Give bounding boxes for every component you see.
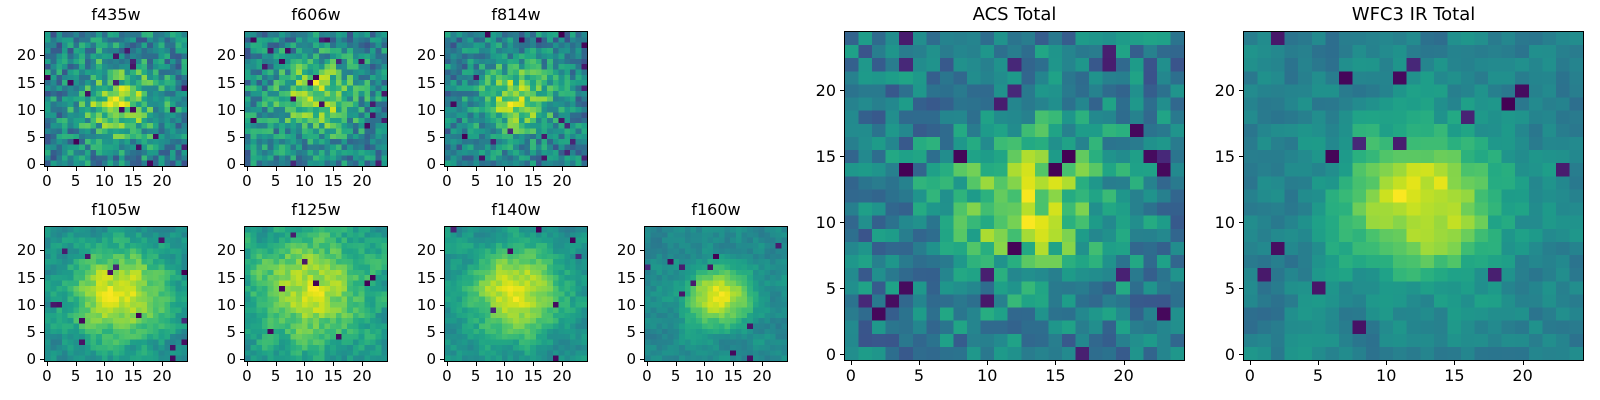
ytick-mark-f814w-3 — [440, 83, 444, 84]
ytick-label-f140w-2: 10 — [384, 296, 436, 314]
heatmap-image-f606w — [245, 32, 387, 166]
ytick-mark-acs_total-3 — [840, 156, 844, 157]
ytick-mark-f140w-0 — [440, 359, 444, 360]
xtick-label-f105w-4: 20 — [137, 367, 187, 385]
ytick-mark-f140w-1 — [440, 332, 444, 333]
ytick-mark-f140w-4 — [440, 250, 444, 251]
axes-wfc3_ir_total — [1243, 31, 1584, 361]
ytick-label-wfc3_ir_total-1: 5 — [1183, 279, 1235, 298]
xtick-mark-f140w-3 — [533, 362, 534, 366]
xtick-mark-f160w-0 — [647, 362, 648, 366]
axes-f140w — [444, 226, 588, 362]
xtick-mark-f125w-4 — [362, 362, 363, 366]
ytick-mark-f606w-4 — [240, 55, 244, 56]
ytick-mark-f105w-4 — [40, 250, 44, 251]
ytick-label-acs_total-1: 5 — [784, 279, 836, 298]
xtick-mark-f140w-2 — [504, 362, 505, 366]
ytick-label-f105w-4: 20 — [0, 241, 36, 259]
ytick-mark-wfc3_ir_total-3 — [1239, 156, 1243, 157]
ytick-label-f105w-3: 15 — [0, 269, 36, 287]
xtick-mark-acs_total-4 — [1124, 361, 1125, 365]
xtick-mark-wfc3_ir_total-0 — [1250, 361, 1251, 365]
ytick-label-f125w-4: 20 — [184, 241, 236, 259]
ytick-mark-f814w-1 — [440, 137, 444, 138]
ytick-label-acs_total-4: 20 — [784, 81, 836, 100]
ytick-label-f140w-0: 0 — [384, 350, 436, 368]
ytick-mark-f435w-2 — [40, 110, 44, 111]
panel-title-f606w: f606w — [244, 5, 388, 25]
ytick-label-f814w-0: 0 — [384, 155, 436, 173]
heatmap-image-f125w — [245, 227, 387, 361]
ytick-label-f435w-3: 15 — [0, 74, 36, 92]
ytick-mark-f814w-0 — [440, 164, 444, 165]
ytick-label-acs_total-2: 10 — [784, 213, 836, 232]
ytick-mark-f160w-0 — [640, 359, 644, 360]
xtick-mark-f814w-1 — [476, 167, 477, 171]
xtick-mark-f160w-4 — [762, 362, 763, 366]
ytick-mark-f125w-1 — [240, 332, 244, 333]
xtick-mark-f125w-3 — [333, 362, 334, 366]
xtick-mark-acs_total-2 — [987, 361, 988, 365]
xtick-label-acs_total-1: 5 — [894, 366, 944, 385]
xtick-mark-f105w-2 — [104, 362, 105, 366]
xtick-mark-f814w-2 — [504, 167, 505, 171]
xtick-label-f606w-4: 20 — [337, 172, 387, 190]
xtick-mark-f105w-1 — [76, 362, 77, 366]
ytick-mark-f435w-4 — [40, 55, 44, 56]
xtick-label-wfc3_ir_total-0: 0 — [1225, 366, 1275, 385]
xtick-label-f125w-4: 20 — [337, 367, 387, 385]
xtick-mark-f125w-2 — [304, 362, 305, 366]
heatmap-image-acs_total — [845, 32, 1184, 360]
ytick-mark-acs_total-2 — [840, 222, 844, 223]
xtick-mark-acs_total-3 — [1055, 361, 1056, 365]
xtick-mark-f160w-3 — [733, 362, 734, 366]
ytick-mark-f140w-2 — [440, 305, 444, 306]
ytick-mark-f125w-2 — [240, 305, 244, 306]
ytick-label-wfc3_ir_total-3: 15 — [1183, 147, 1235, 166]
ytick-mark-wfc3_ir_total-2 — [1239, 222, 1243, 223]
ytick-mark-f125w-3 — [240, 278, 244, 279]
ytick-mark-f160w-3 — [640, 278, 644, 279]
axes-f125w — [244, 226, 388, 362]
xtick-mark-f105w-0 — [47, 362, 48, 366]
ytick-label-f140w-1: 5 — [384, 323, 436, 341]
xtick-mark-f435w-0 — [47, 167, 48, 171]
xtick-mark-f606w-3 — [333, 167, 334, 171]
xtick-mark-f435w-2 — [104, 167, 105, 171]
ytick-label-f160w-1: 5 — [584, 323, 636, 341]
xtick-label-acs_total-4: 20 — [1099, 366, 1149, 385]
xtick-label-acs_total-0: 0 — [826, 366, 876, 385]
ytick-label-wfc3_ir_total-4: 20 — [1183, 81, 1235, 100]
ytick-mark-f125w-0 — [240, 359, 244, 360]
ytick-label-f814w-3: 15 — [384, 74, 436, 92]
ytick-mark-f814w-2 — [440, 110, 444, 111]
heatmap-image-f160w — [645, 227, 787, 361]
ytick-label-f160w-3: 15 — [584, 269, 636, 287]
xtick-label-f814w-4: 20 — [537, 172, 587, 190]
xtick-mark-f606w-0 — [247, 167, 248, 171]
ytick-mark-wfc3_ir_total-0 — [1239, 354, 1243, 355]
ytick-mark-f435w-3 — [40, 83, 44, 84]
ytick-label-wfc3_ir_total-0: 0 — [1183, 345, 1235, 364]
panel-title-f140w: f140w — [444, 200, 588, 220]
axes-f160w — [644, 226, 788, 362]
xtick-mark-f814w-3 — [533, 167, 534, 171]
xtick-label-f140w-4: 20 — [537, 367, 587, 385]
xtick-mark-f160w-1 — [676, 362, 677, 366]
xtick-mark-wfc3_ir_total-4 — [1523, 361, 1524, 365]
xtick-mark-f125w-0 — [247, 362, 248, 366]
xtick-mark-f125w-1 — [276, 362, 277, 366]
ytick-label-f105w-2: 10 — [0, 296, 36, 314]
ytick-mark-f814w-4 — [440, 55, 444, 56]
panel-title-wfc3_ir_total: WFC3 IR Total — [1243, 5, 1584, 25]
axes-f606w — [244, 31, 388, 167]
xtick-label-acs_total-2: 10 — [962, 366, 1012, 385]
xtick-mark-f435w-1 — [76, 167, 77, 171]
xtick-mark-acs_total-0 — [851, 361, 852, 365]
ytick-label-wfc3_ir_total-2: 10 — [1183, 213, 1235, 232]
xtick-mark-wfc3_ir_total-3 — [1454, 361, 1455, 365]
xtick-label-acs_total-3: 15 — [1030, 366, 1080, 385]
xtick-mark-f140w-1 — [476, 362, 477, 366]
ytick-mark-wfc3_ir_total-1 — [1239, 288, 1243, 289]
heatmap-image-f814w — [445, 32, 587, 166]
ytick-label-f435w-1: 5 — [0, 128, 36, 146]
ytick-mark-f105w-1 — [40, 332, 44, 333]
ytick-mark-f140w-3 — [440, 278, 444, 279]
ytick-label-f814w-1: 5 — [384, 128, 436, 146]
panel-title-f160w: f160w — [644, 200, 788, 220]
ytick-label-f160w-2: 10 — [584, 296, 636, 314]
ytick-label-f105w-0: 0 — [0, 350, 36, 368]
xtick-mark-f606w-2 — [304, 167, 305, 171]
xtick-mark-f606w-1 — [276, 167, 277, 171]
ytick-label-f125w-2: 10 — [184, 296, 236, 314]
ytick-mark-f105w-2 — [40, 305, 44, 306]
ytick-label-f125w-3: 15 — [184, 269, 236, 287]
ytick-label-f435w-4: 20 — [0, 46, 36, 64]
xtick-mark-f160w-2 — [704, 362, 705, 366]
xtick-mark-f140w-4 — [562, 362, 563, 366]
ytick-mark-f606w-2 — [240, 110, 244, 111]
figure-canvas: f435w0510152005101520f606w05101520051015… — [0, 0, 1600, 400]
ytick-mark-f435w-1 — [40, 137, 44, 138]
xtick-label-f160w-4: 20 — [737, 367, 787, 385]
ytick-label-f606w-3: 15 — [184, 74, 236, 92]
xtick-mark-wfc3_ir_total-1 — [1318, 361, 1319, 365]
panel-f814w: f814w0510152005101520 — [384, 5, 648, 201]
ytick-label-f105w-1: 5 — [0, 323, 36, 341]
ytick-label-f160w-4: 20 — [584, 241, 636, 259]
heatmap-image-wfc3_ir_total — [1244, 32, 1583, 360]
xtick-mark-f606w-4 — [362, 167, 363, 171]
xtick-mark-f140w-0 — [447, 362, 448, 366]
ytick-mark-f435w-0 — [40, 164, 44, 165]
ytick-mark-f105w-3 — [40, 278, 44, 279]
panel-wfc3_ir_total: WFC3 IR Total0510152005101520 — [1183, 5, 1600, 395]
ytick-mark-acs_total-0 — [840, 354, 844, 355]
panel-title-f435w: f435w — [44, 5, 188, 25]
axes-f814w — [444, 31, 588, 167]
panel-acs_total: ACS Total0510152005101520 — [784, 5, 1245, 395]
ytick-label-f435w-0: 0 — [0, 155, 36, 173]
xtick-label-wfc3_ir_total-2: 10 — [1361, 366, 1411, 385]
ytick-label-f606w-0: 0 — [184, 155, 236, 173]
ytick-label-acs_total-0: 0 — [784, 345, 836, 364]
xtick-mark-f814w-0 — [447, 167, 448, 171]
ytick-label-f140w-4: 20 — [384, 241, 436, 259]
xtick-label-wfc3_ir_total-4: 20 — [1498, 366, 1548, 385]
xtick-mark-acs_total-1 — [919, 361, 920, 365]
ytick-label-f435w-2: 10 — [0, 101, 36, 119]
ytick-label-f160w-0: 0 — [584, 350, 636, 368]
heatmap-image-f105w — [45, 227, 187, 361]
ytick-label-f606w-4: 20 — [184, 46, 236, 64]
ytick-mark-f606w-1 — [240, 137, 244, 138]
panel-title-acs_total: ACS Total — [844, 5, 1185, 25]
xtick-mark-f105w-4 — [162, 362, 163, 366]
ytick-label-f125w-1: 5 — [184, 323, 236, 341]
ytick-mark-acs_total-1 — [840, 288, 844, 289]
xtick-mark-f105w-3 — [133, 362, 134, 366]
ytick-mark-f606w-3 — [240, 83, 244, 84]
heatmap-image-f140w — [445, 227, 587, 361]
xtick-label-f435w-4: 20 — [137, 172, 187, 190]
heatmap-image-f435w — [45, 32, 187, 166]
ytick-label-f814w-4: 20 — [384, 46, 436, 64]
ytick-mark-f160w-4 — [640, 250, 644, 251]
ytick-mark-f160w-2 — [640, 305, 644, 306]
ytick-label-f814w-2: 10 — [384, 101, 436, 119]
xtick-mark-f435w-3 — [133, 167, 134, 171]
xtick-label-wfc3_ir_total-3: 15 — [1429, 366, 1479, 385]
panel-title-f105w: f105w — [44, 200, 188, 220]
ytick-mark-f105w-0 — [40, 359, 44, 360]
ytick-label-f606w-2: 10 — [184, 101, 236, 119]
xtick-mark-f435w-4 — [162, 167, 163, 171]
axes-f435w — [44, 31, 188, 167]
ytick-mark-f606w-0 — [240, 164, 244, 165]
ytick-mark-wfc3_ir_total-4 — [1239, 90, 1243, 91]
xtick-label-wfc3_ir_total-1: 5 — [1293, 366, 1343, 385]
panel-title-f814w: f814w — [444, 5, 588, 25]
ytick-label-f606w-1: 5 — [184, 128, 236, 146]
xtick-mark-f814w-4 — [562, 167, 563, 171]
ytick-label-f125w-0: 0 — [184, 350, 236, 368]
axes-acs_total — [844, 31, 1185, 361]
ytick-mark-f125w-4 — [240, 250, 244, 251]
xtick-mark-wfc3_ir_total-2 — [1386, 361, 1387, 365]
ytick-label-acs_total-3: 15 — [784, 147, 836, 166]
ytick-mark-f160w-1 — [640, 332, 644, 333]
panel-title-f125w: f125w — [244, 200, 388, 220]
ytick-mark-acs_total-4 — [840, 90, 844, 91]
ytick-label-f140w-3: 15 — [384, 269, 436, 287]
axes-f105w — [44, 226, 188, 362]
